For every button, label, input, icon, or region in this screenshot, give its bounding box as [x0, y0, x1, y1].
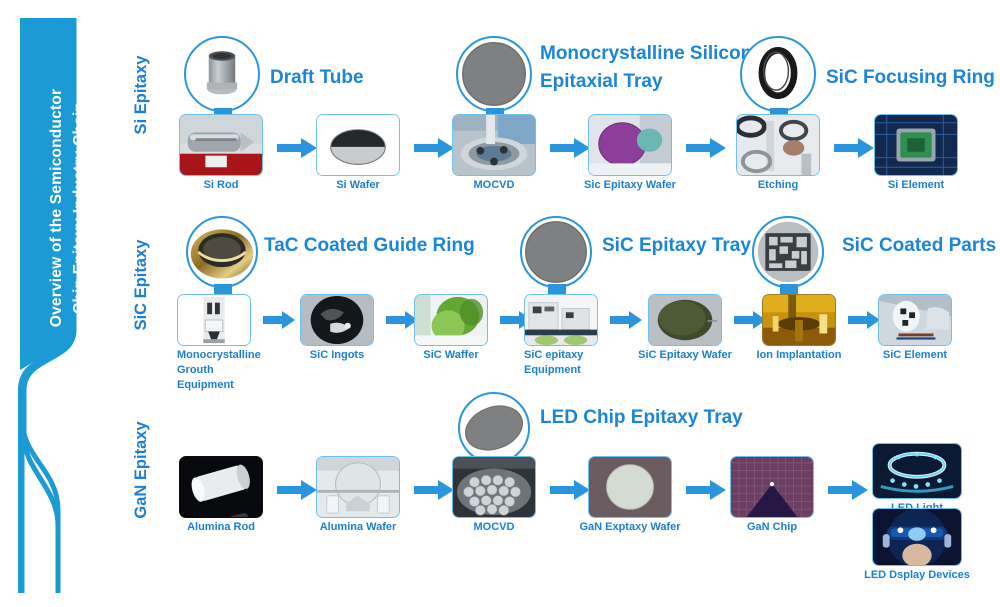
diagram-canvas: Overview of the Semiconductor Chip Epita…	[0, 0, 1000, 607]
node-sic-epitaxy-wafer[interactable]: SiC Epitaxy Wafer	[648, 294, 722, 380]
growth-equipment-photo[interactable]	[177, 294, 251, 346]
gan-mocvd-photo[interactable]	[452, 456, 536, 518]
sic-coated-parts-icon	[754, 218, 822, 286]
draft-tube-icon	[186, 38, 258, 110]
arrow-right-icon	[550, 136, 592, 160]
si-rod-art	[180, 115, 262, 175]
sic-epitaxy-wafer-photo[interactable]	[588, 114, 672, 176]
callout-focusing-ring	[740, 36, 816, 112]
mocvd-chamber-photo[interactable]	[452, 114, 536, 176]
si-rod-photo[interactable]	[179, 114, 263, 176]
led-chip-epitaxy-tray-bubble	[458, 392, 530, 464]
draft-tube-bubble	[184, 36, 260, 112]
sic-epitaxy-wafer2-art	[649, 295, 721, 345]
arrow-right-icon	[828, 478, 870, 502]
node-led-display-devices[interactable]: LED Dsplay Devices	[872, 508, 962, 590]
node-sic-ingots[interactable]: SiC Ingots	[300, 294, 374, 380]
node-caption: Si Rod	[204, 178, 239, 193]
focusing-ring-bubble	[740, 36, 816, 112]
arrow-right-icon	[414, 478, 456, 502]
alumina-rod-photo[interactable]	[179, 456, 263, 518]
node-si-wafer[interactable]: Si Wafer	[316, 114, 400, 196]
node-caption: MOCVD	[474, 178, 515, 193]
arrow-right-icon	[414, 136, 456, 160]
tac-guide-ring-bubble	[186, 216, 258, 288]
si-element-chip-photo[interactable]	[874, 114, 958, 176]
node-gan-exptaxy-wafer[interactable]: GaN Exptaxy Wafer	[588, 456, 672, 540]
node-alumina-wafer[interactable]: Alumina Wafer	[316, 456, 400, 540]
node-caption: Ion Implantation	[757, 348, 842, 363]
sic-epitaxy-equipment-photo[interactable]	[524, 294, 598, 346]
callout-sic-coated-parts	[752, 216, 824, 288]
sic-waffer-art	[415, 295, 487, 345]
node-caption: GaN Exptaxy Wafer	[579, 520, 680, 535]
sic-epitaxy-wafer2-photo[interactable]	[648, 294, 722, 346]
node-caption: LED Dsplay Devices	[864, 568, 970, 583]
arrow-right-icon	[686, 478, 728, 502]
callout-label-sic-coated-parts: SiC Coated Parts	[842, 232, 996, 260]
node-caption: MOCVD	[474, 520, 515, 535]
si-wafer-art	[317, 115, 399, 175]
node-mocvd-gan[interactable]: MOCVD	[452, 456, 536, 540]
node-si-element[interactable]: Si Element	[874, 114, 958, 196]
sic-ingots-art	[301, 295, 373, 345]
arrow-right-icon	[550, 478, 592, 502]
gan-exptaxy-wafer-photo[interactable]	[588, 456, 672, 518]
row-label-si-epitaxy: Si Epitaxy	[132, 0, 158, 195]
node-caption: SiC epitaxy Equipment	[524, 348, 620, 378]
arrow-right-icon	[277, 136, 319, 160]
si-wafer-photo[interactable]	[316, 114, 400, 176]
sic-epitaxy-tray-bubble	[520, 216, 592, 288]
arrow-right-icon	[686, 136, 728, 160]
row-label-sic-epitaxy: SiC Epitaxy	[132, 185, 158, 385]
node-caption: Si Element	[888, 178, 944, 193]
etching-art	[737, 115, 819, 175]
sic-waffer-photo[interactable]	[414, 294, 488, 346]
node-caption: SiC Epitaxy Wafer	[638, 348, 732, 363]
sic-epitaxy-equipment-art	[525, 295, 597, 345]
epitaxial-tray-icon	[458, 38, 530, 110]
arrow-right-icon	[277, 478, 319, 502]
node-alumina-rod[interactable]: Alumina Rod	[179, 456, 263, 540]
ribbon-shape	[14, 18, 122, 593]
arrow-right-icon	[834, 136, 876, 160]
led-light-photo[interactable]	[872, 443, 962, 499]
alumina-wafer-photo[interactable]	[316, 456, 400, 518]
callout-label-sic-epitaxy-tray: SiC Epitaxy Tray	[602, 232, 751, 260]
sic-element-photo[interactable]	[878, 294, 952, 346]
led-chip-epitaxy-tray-icon	[460, 394, 528, 462]
row-label-gan-epitaxy: GaN Epitaxy	[132, 370, 158, 570]
node-si-rod[interactable]: Si Rod	[179, 114, 263, 196]
node-caption: SiC Ingots	[310, 348, 364, 363]
callout-epitaxial-tray	[456, 36, 532, 112]
callout-label-led-chip-epitaxy-tray: LED Chip Epitaxy Tray	[540, 404, 743, 432]
node-sic-element[interactable]: SiC Element	[878, 294, 952, 380]
callout-sic-epitaxy-tray	[520, 216, 592, 288]
sic-element-art	[879, 295, 951, 345]
node-caption: Alumina Rod	[187, 520, 255, 535]
node-caption: Monocrystalline Grouth Equipment	[177, 348, 273, 393]
gan-exptaxy-wafer-art	[589, 457, 671, 517]
title-ribbon: Overview of the Semiconductor Chip Epita…	[14, 18, 122, 593]
callout-tac-guide-ring	[186, 216, 258, 288]
sic-wafer-art	[589, 115, 671, 175]
alumina-wafer-art	[317, 457, 399, 517]
led-light-art	[873, 444, 961, 498]
callout-label-focusing-ring: SiC Focusing Ring	[826, 64, 995, 92]
arrow-right-icon	[610, 310, 644, 330]
node-caption: Etching	[758, 178, 798, 193]
tac-guide-ring-icon	[188, 218, 256, 286]
si-element-art	[875, 115, 957, 175]
node-ion-implantation[interactable]: Ion Implantation	[762, 294, 836, 380]
etching-equipment-photo[interactable]	[736, 114, 820, 176]
node-gan-chip[interactable]: GaN Chip	[730, 456, 814, 540]
node-caption: Si Wafer	[336, 178, 380, 193]
epitaxial-tray-bubble	[456, 36, 532, 112]
alumina-rod-art	[180, 457, 262, 517]
node-growth-equipment[interactable]: Monocrystalline Grouth Equipment	[177, 294, 251, 380]
gan-mocvd-art	[453, 457, 535, 517]
node-sic-waffer[interactable]: SiC Waffer	[414, 294, 488, 380]
node-caption: Alumina Wafer	[320, 520, 397, 535]
callout-label-tac-guide-ring: TaC Coated Guide Ring	[264, 232, 475, 260]
sic-epitaxy-tray-icon	[522, 218, 590, 286]
arrow-right-icon	[263, 310, 297, 330]
led-display-devices-photo[interactable]	[872, 508, 962, 566]
node-sic-epitaxy-wafer-si[interactable]: Sic Epitaxy Wafer	[588, 114, 672, 196]
node-caption: SiC Element	[883, 348, 947, 363]
node-mocvd-si[interactable]: MOCVD	[452, 114, 536, 196]
callout-label-draft-tube: Draft Tube	[270, 64, 364, 92]
growth-equipment-art	[178, 295, 250, 345]
callout-draft-tube	[184, 36, 260, 112]
gan-chip-art	[731, 457, 813, 517]
node-caption: SiC Waffer	[423, 348, 478, 363]
mocvd-art	[453, 115, 535, 175]
gan-chip-photo[interactable]	[730, 456, 814, 518]
arrow-right-icon	[848, 310, 882, 330]
sic-coated-parts-bubble	[752, 216, 824, 288]
callout-led-chip-epitaxy-tray	[458, 392, 530, 464]
ion-implantation-photo[interactable]	[762, 294, 836, 346]
node-sic-epitaxy-equipment[interactable]: SiC epitaxy Equipment	[524, 294, 598, 380]
sic-ingots-photo[interactable]	[300, 294, 374, 346]
node-caption: Sic Epitaxy Wafer	[584, 178, 676, 193]
led-display-devices-art	[873, 509, 961, 565]
ion-implantation-art	[763, 295, 835, 345]
node-caption: GaN Chip	[747, 520, 797, 535]
focusing-ring-icon	[742, 38, 814, 110]
node-etching[interactable]: Etching	[736, 114, 820, 196]
